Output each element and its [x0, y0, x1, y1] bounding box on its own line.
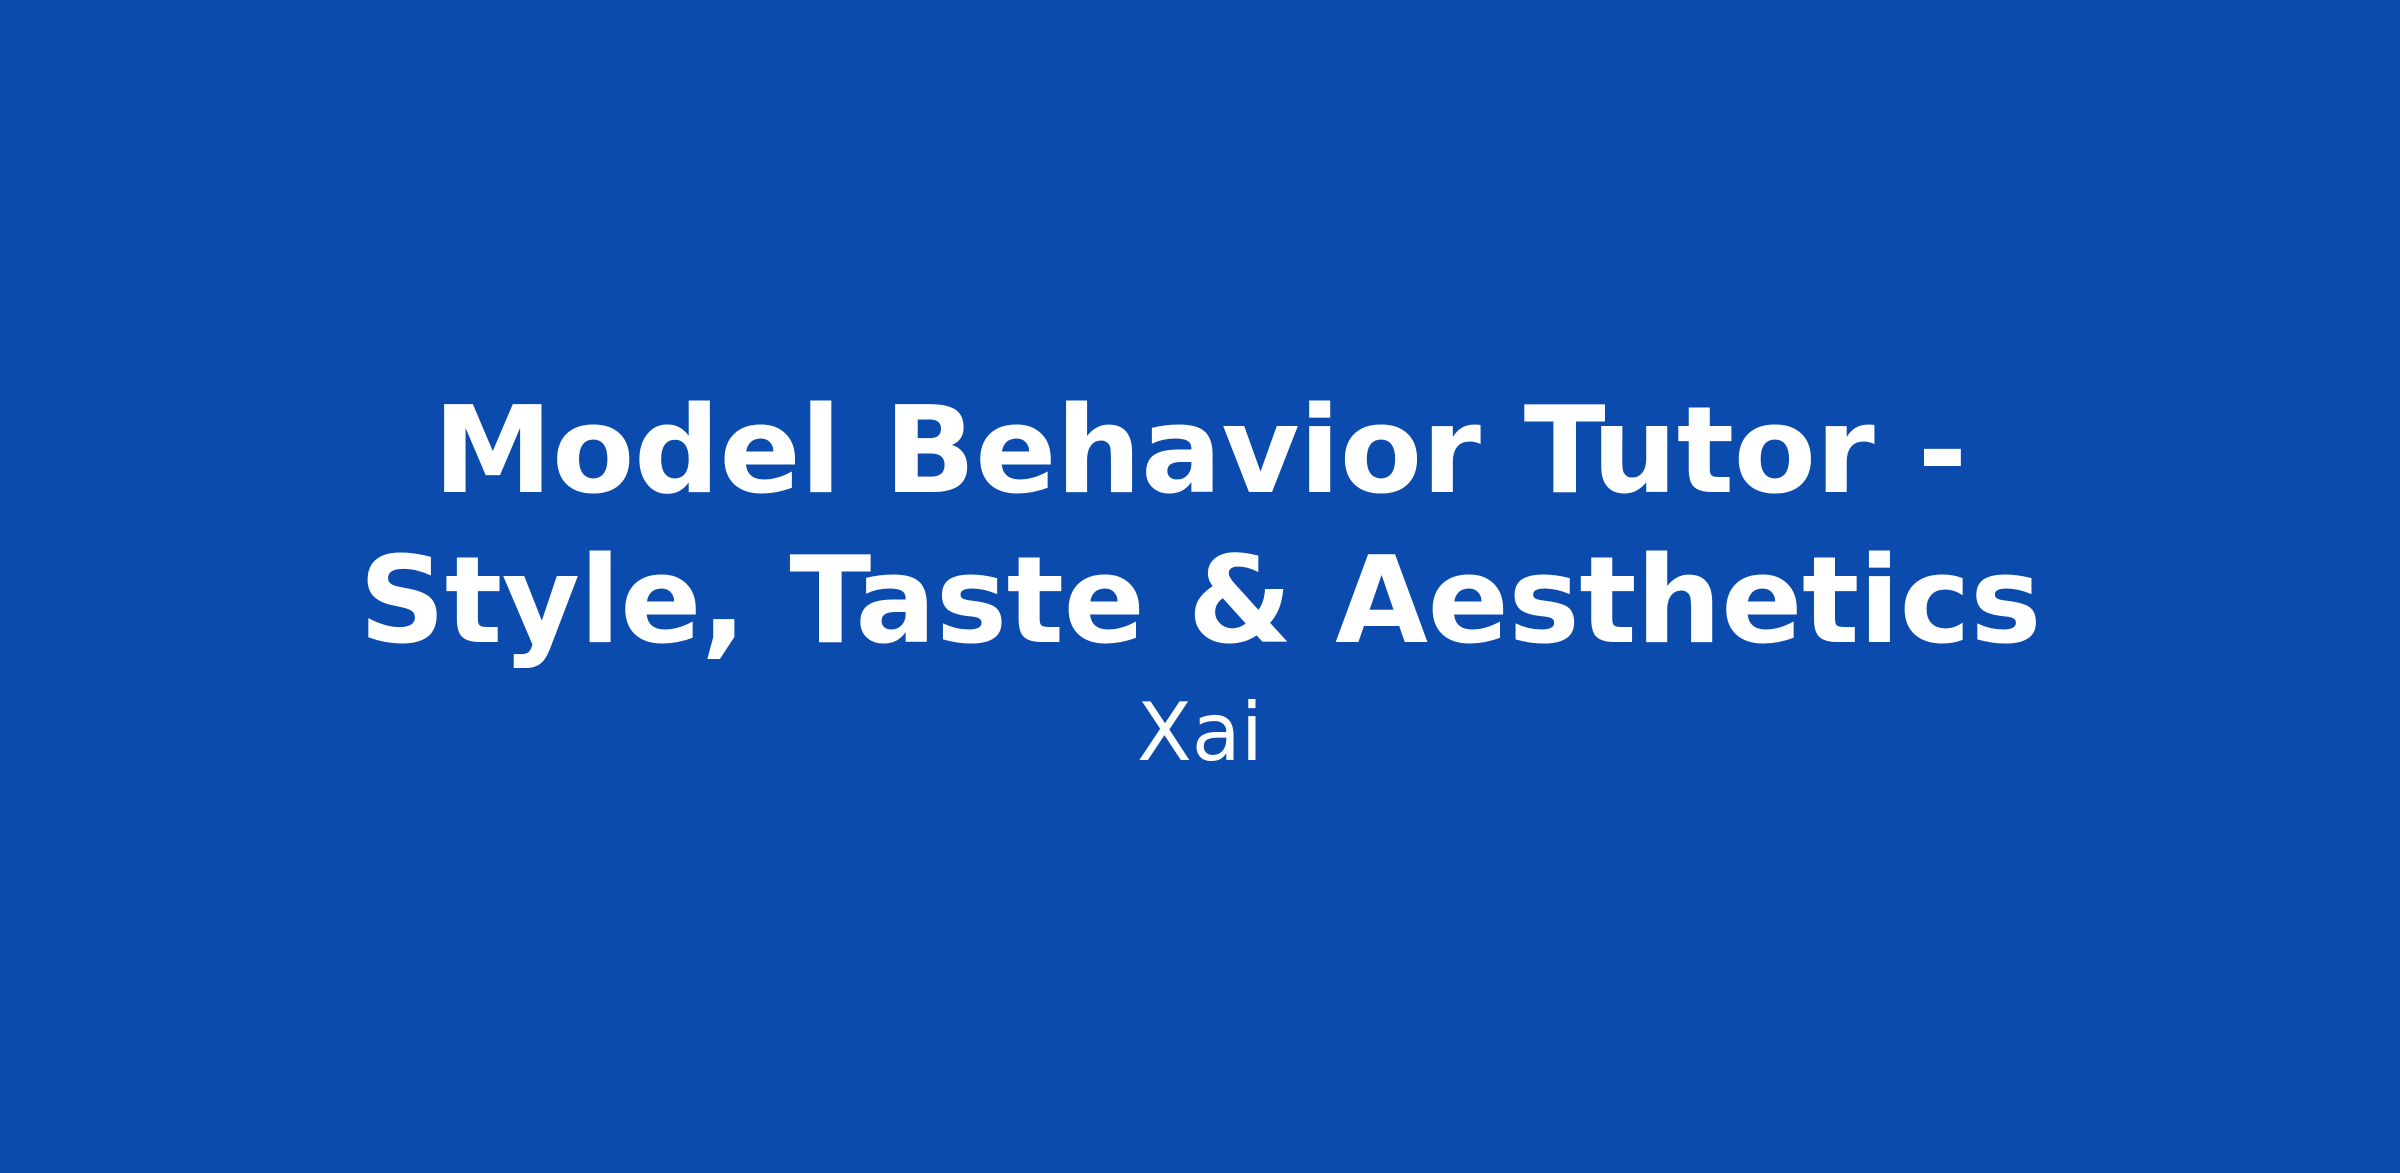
title-block: Model Behavior Tutor - Style, Taste & Ae… — [0, 377, 2400, 785]
page-title: Model Behavior Tutor - Style, Taste & Ae… — [335, 377, 2065, 677]
title-slide: Model Behavior Tutor - Style, Taste & Ae… — [0, 0, 2400, 1173]
page-subtitle: Xai — [1137, 681, 1263, 785]
